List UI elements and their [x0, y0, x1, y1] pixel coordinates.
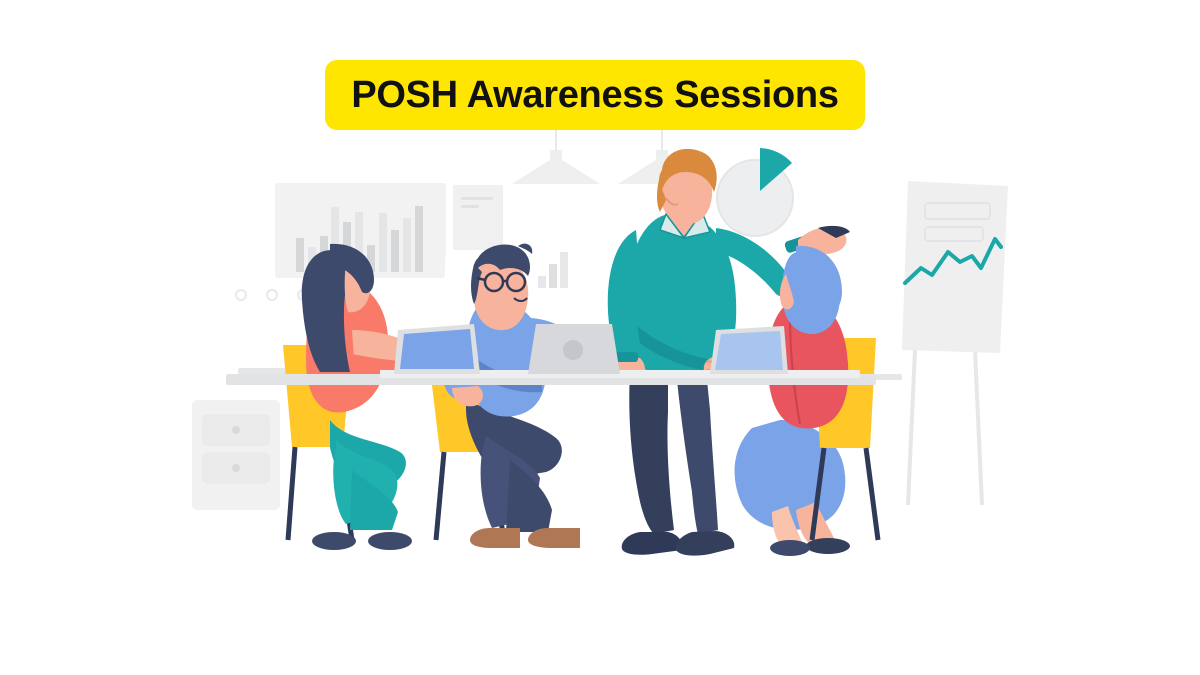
- filing-cabinet: [192, 400, 280, 510]
- laptop-screen-right: [710, 326, 788, 374]
- woman-long-hair-left: [283, 244, 443, 550]
- laptop-closed-center: [528, 324, 620, 374]
- illustration-page: POSH Awareness Sessions: [0, 0, 1200, 675]
- title-banner: POSH Awareness Sessions: [325, 60, 865, 130]
- flipchart-board: [902, 181, 1008, 505]
- poster-edge: [440, 183, 446, 258]
- laptop-screen-left: [394, 324, 480, 374]
- wall-dots: [236, 290, 308, 300]
- page-title: POSH Awareness Sessions: [351, 76, 838, 114]
- man-with-glasses: [428, 244, 619, 548]
- pie-chart: [717, 148, 793, 236]
- wall-shelf: [238, 368, 288, 375]
- document-poster: [453, 185, 503, 250]
- mini-bar-chart: [538, 252, 568, 288]
